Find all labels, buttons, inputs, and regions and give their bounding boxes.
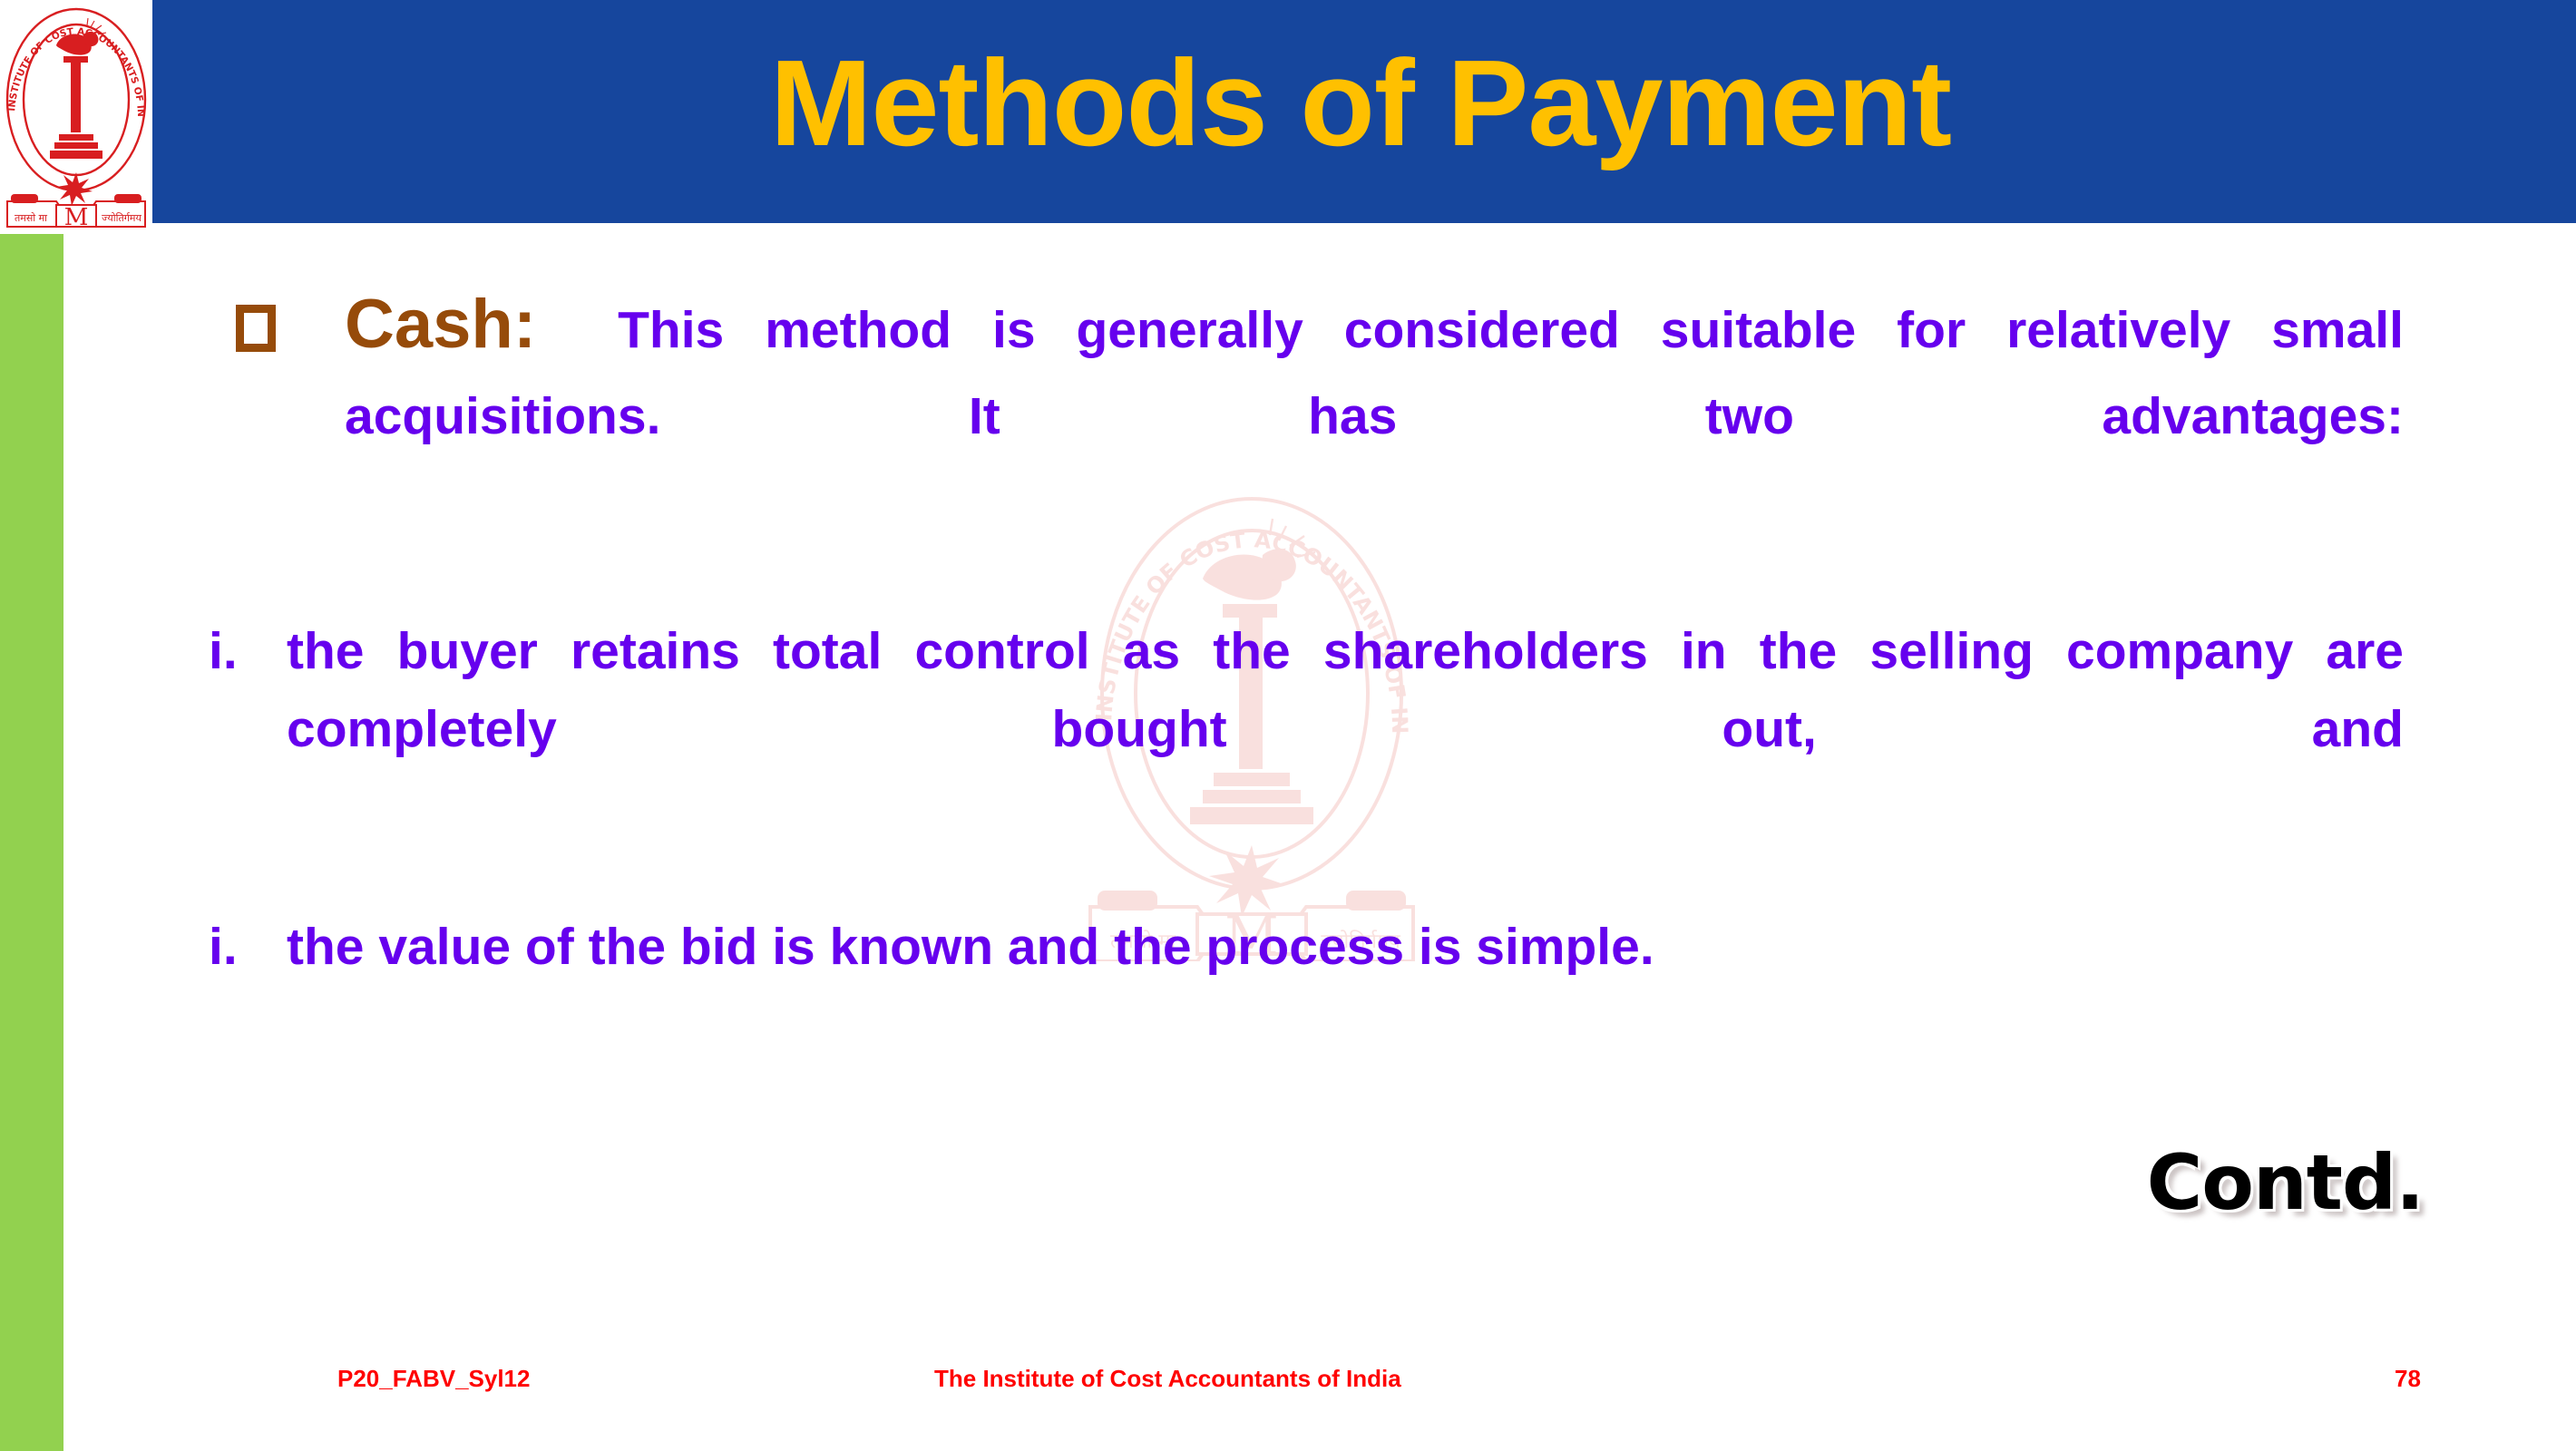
- cash-bullet-block: Cash: This method is generally considere…: [209, 272, 2404, 534]
- list-item: i. the value of the bid is known and the…: [209, 908, 2404, 987]
- cash-paragraph: Cash: This method is generally considere…: [209, 272, 2404, 534]
- list-item-text: the value of the bid is known and the pr…: [287, 908, 2404, 987]
- list-item: i. the buyer retains total control as th…: [209, 612, 2404, 848]
- footer-subject-code: P20_FABV_Syl12: [337, 1365, 530, 1393]
- hollow-square-bullet-icon: [236, 305, 276, 352]
- list-marker: i.: [209, 612, 287, 691]
- footer-page-number: 78: [2395, 1365, 2421, 1393]
- institute-logo: THE INSTITUTE OF COST ACCOUNTANTS OF IND…: [0, 0, 152, 234]
- list-item-text: the buyer retains total control as the s…: [287, 612, 2404, 848]
- list-marker: i.: [209, 908, 287, 987]
- slide-body: Cash: This method is generally considere…: [209, 272, 2404, 1046]
- svg-text:तमसो मा: तमसो मा: [15, 212, 47, 224]
- svg-text:ज्योतिर्गमय: ज्योतिर्गमय: [102, 212, 141, 224]
- footer-institute-name: The Institute of Cost Accountants of Ind…: [934, 1365, 1401, 1393]
- slide-footer: P20_FABV_Syl12 The Institute of Cost Acc…: [0, 1365, 2576, 1407]
- continuation-label: Contd.: [2147, 1138, 2424, 1227]
- cash-text: This method is generally considered suit…: [345, 301, 2404, 445]
- page-title: Methods of Payment: [145, 0, 2576, 223]
- svg-text:M: M: [64, 204, 89, 231]
- cash-label: Cash:: [345, 286, 536, 363]
- green-accent-bar: [0, 204, 63, 1451]
